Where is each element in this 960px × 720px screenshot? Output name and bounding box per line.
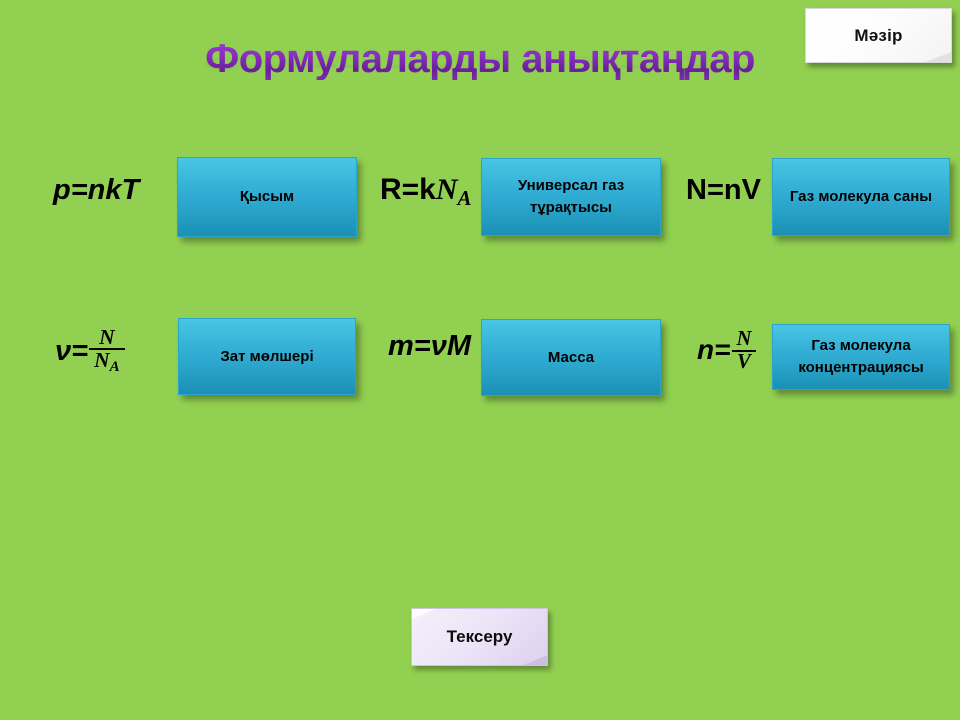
answer-box-label: Газ молекула саны xyxy=(784,186,938,208)
formula-var-n: N xyxy=(436,173,458,206)
fraction-numerator: N xyxy=(94,327,120,348)
answer-box-label: Газ молекула концентрациясы xyxy=(773,335,949,379)
formula-r-kna: R=kNA xyxy=(380,175,472,209)
answer-box-universal-gas-constant[interactable]: Универсал газ тұрақтысы xyxy=(481,158,661,236)
answer-box-pressure[interactable]: Қысым xyxy=(177,157,357,237)
page-title-reflection: Формулаларды анықтаңдар xyxy=(205,51,755,74)
answer-box-mass[interactable]: Масса xyxy=(481,319,661,396)
fraction-n-over-v: NV xyxy=(731,329,756,372)
answer-box-molecule-count[interactable]: Газ молекула саны xyxy=(772,158,950,236)
check-button-label: Тексеру xyxy=(447,627,513,647)
check-button[interactable]: Тексеру xyxy=(411,608,548,666)
fraction-denominator: NA xyxy=(89,348,125,375)
answer-box-label: Қысым xyxy=(234,186,300,208)
fraction-denominator-subscript: A xyxy=(110,360,120,376)
fraction-n-over-na: NNA xyxy=(89,327,125,376)
formula-subscript-a: A xyxy=(458,186,472,210)
fraction-numerator: N xyxy=(731,329,756,350)
answer-box-label: Масса xyxy=(542,347,600,369)
answer-box-amount-of-substance[interactable]: Зат мөлшері xyxy=(178,318,356,395)
formula-n-nv: N=nV xyxy=(686,176,761,205)
answer-box-label: Зат мөлшері xyxy=(214,346,319,368)
formula-m-num: m=νM xyxy=(388,332,471,361)
page-title-block: Формулаларды анықтаңдар Формулаларды аны… xyxy=(0,38,960,116)
fraction-denominator: V xyxy=(732,350,756,373)
answer-box-label: Универсал газ тұрақтысы xyxy=(482,175,660,219)
formula-p-nkt: p=nkT xyxy=(53,176,139,205)
formula-n-over-v: n=NV xyxy=(697,330,756,373)
formula-nu-n-over-na: ν=NNA xyxy=(55,328,125,377)
answer-box-concentration[interactable]: Газ молекула концентрациясы xyxy=(772,324,950,390)
